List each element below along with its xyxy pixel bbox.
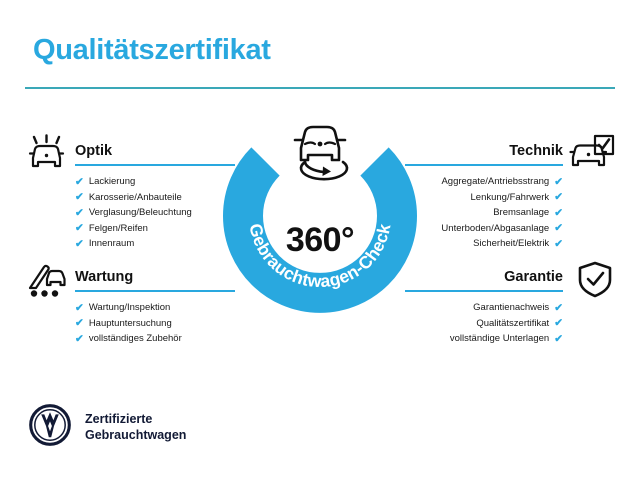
list-item-label: Verglasung/Beleuchtung <box>89 205 192 221</box>
check-icon: ✔ <box>75 334 84 345</box>
list-item-label: Lenkung/Fahrwerk <box>471 190 550 206</box>
list-item: ✔Hauptuntersuchung <box>75 316 235 332</box>
list-item: ✔Lackierung <box>75 174 235 190</box>
list-item: ✔Sicherheit/Elektrik <box>405 236 563 252</box>
list-item-label: Felgen/Reifen <box>89 221 148 237</box>
section-optik-title: Optik <box>75 143 112 159</box>
list-item: ✔vollständige Unterlagen <box>405 331 563 347</box>
check-icon: ✔ <box>75 239 84 250</box>
car-shine-icon <box>25 134 69 179</box>
section-technik-title: Technik <box>509 143 563 159</box>
section-garantie-title: Garantie <box>504 269 563 285</box>
section-garantie: Garantie ✔Garantienachweis ✔Qualitätszer… <box>405 262 615 347</box>
check-icon: ✔ <box>554 192 563 203</box>
section-garantie-underline <box>405 290 563 292</box>
footer-brand: Zertifizierte Gebrauchtwagen <box>29 404 186 451</box>
list-item: ✔Verglasung/Beleuchtung <box>75 205 235 221</box>
list-item: ✔Garantienachweis <box>405 300 563 316</box>
section-technik-items: ✔Aggregate/Antriebsstrang ✔Lenkung/Fahrw… <box>405 174 615 252</box>
badge-360-check: Gebrauchtwagen-Check <box>222 118 418 314</box>
list-item-label: Wartung/Inspektion <box>89 300 171 316</box>
section-technik-underline <box>405 164 563 166</box>
list-item: ✔Karosserie/Anbauteile <box>75 190 235 206</box>
vw-logo-icon <box>29 404 71 451</box>
check-icon: ✔ <box>75 303 84 314</box>
list-item-label: Karosserie/Anbauteile <box>89 190 182 206</box>
footer-line-1: Zertifizierte <box>85 412 152 426</box>
section-garantie-header: Garantie <box>405 262 615 292</box>
footer-line-2: Gebrauchtwagen <box>85 428 186 442</box>
list-item: ✔Unterboden/Abgasanlage <box>405 221 563 237</box>
section-technik-header: Technik <box>405 136 615 166</box>
check-icon: ✔ <box>554 334 563 345</box>
list-item: ✔Aggregate/Antriebsstrang <box>405 174 563 190</box>
list-item-label: Lackierung <box>89 174 135 190</box>
list-item-label: Innenraum <box>89 236 134 252</box>
section-technik: Technik ✔Aggregate/Antriebsstrang ✔Lenku… <box>405 136 615 252</box>
list-item-label: Unterboden/Abgasanlage <box>441 221 549 237</box>
section-wartung-items: ✔Wartung/Inspektion ✔Hauptuntersuchung ✔… <box>25 300 235 347</box>
check-icon: ✔ <box>554 223 563 234</box>
list-item: ✔Lenkung/Fahrwerk <box>405 190 563 206</box>
check-icon: ✔ <box>554 177 563 188</box>
list-item-label: vollständige Unterlagen <box>450 331 549 347</box>
check-icon: ✔ <box>75 223 84 234</box>
section-optik-header: Optik <box>25 136 235 166</box>
section-wartung-header: Wartung <box>25 262 235 292</box>
check-icon: ✔ <box>75 208 84 219</box>
check-icon: ✔ <box>554 318 563 329</box>
list-item: ✔Felgen/Reifen <box>75 221 235 237</box>
list-item: ✔Wartung/Inspektion <box>75 300 235 316</box>
list-item-label: Hauptuntersuchung <box>89 316 172 332</box>
car-rotate-icon <box>281 116 359 187</box>
badge-center-label: 360° <box>222 221 418 260</box>
check-icon: ✔ <box>554 208 563 219</box>
check-icon: ✔ <box>554 239 563 250</box>
list-item: ✔vollständiges Zubehör <box>75 331 235 347</box>
check-icon: ✔ <box>75 318 84 329</box>
footer-brand-text: Zertifizierte Gebrauchtwagen <box>85 412 186 443</box>
shield-check-icon <box>575 260 615 305</box>
page-title: Qualitätszertifikat <box>33 34 271 67</box>
car-lift-icon <box>25 260 69 305</box>
certificate-page: Qualitätszertifikat <box>0 0 640 480</box>
list-item-label: Sicherheit/Elektrik <box>473 236 549 252</box>
check-icon: ✔ <box>75 192 84 203</box>
list-item-label: Bremsanlage <box>493 205 549 221</box>
section-garantie-items: ✔Garantienachweis ✔Qualitätszertifikat ✔… <box>405 300 615 347</box>
car-checkbox-icon <box>569 134 615 179</box>
check-icon: ✔ <box>75 177 84 188</box>
section-optik: Optik ✔Lackierung ✔Karosserie/Anbauteile… <box>25 136 235 252</box>
list-item-label: Qualitätszertifikat <box>476 316 549 332</box>
section-optik-underline <box>75 164 235 166</box>
section-wartung-title: Wartung <box>75 269 133 285</box>
check-icon: ✔ <box>554 303 563 314</box>
list-item: ✔Bremsanlage <box>405 205 563 221</box>
list-item-label: Aggregate/Antriebsstrang <box>441 174 549 190</box>
list-item-label: vollständiges Zubehör <box>89 331 182 347</box>
section-wartung: Wartung ✔Wartung/Inspektion ✔Hauptunters… <box>25 262 235 347</box>
list-item: ✔Qualitätszertifikat <box>405 316 563 332</box>
section-optik-items: ✔Lackierung ✔Karosserie/Anbauteile ✔Verg… <box>25 174 235 252</box>
title-divider <box>25 87 615 89</box>
section-wartung-underline <box>75 290 235 292</box>
list-item: ✔Innenraum <box>75 236 235 252</box>
list-item-label: Garantienachweis <box>473 300 549 316</box>
